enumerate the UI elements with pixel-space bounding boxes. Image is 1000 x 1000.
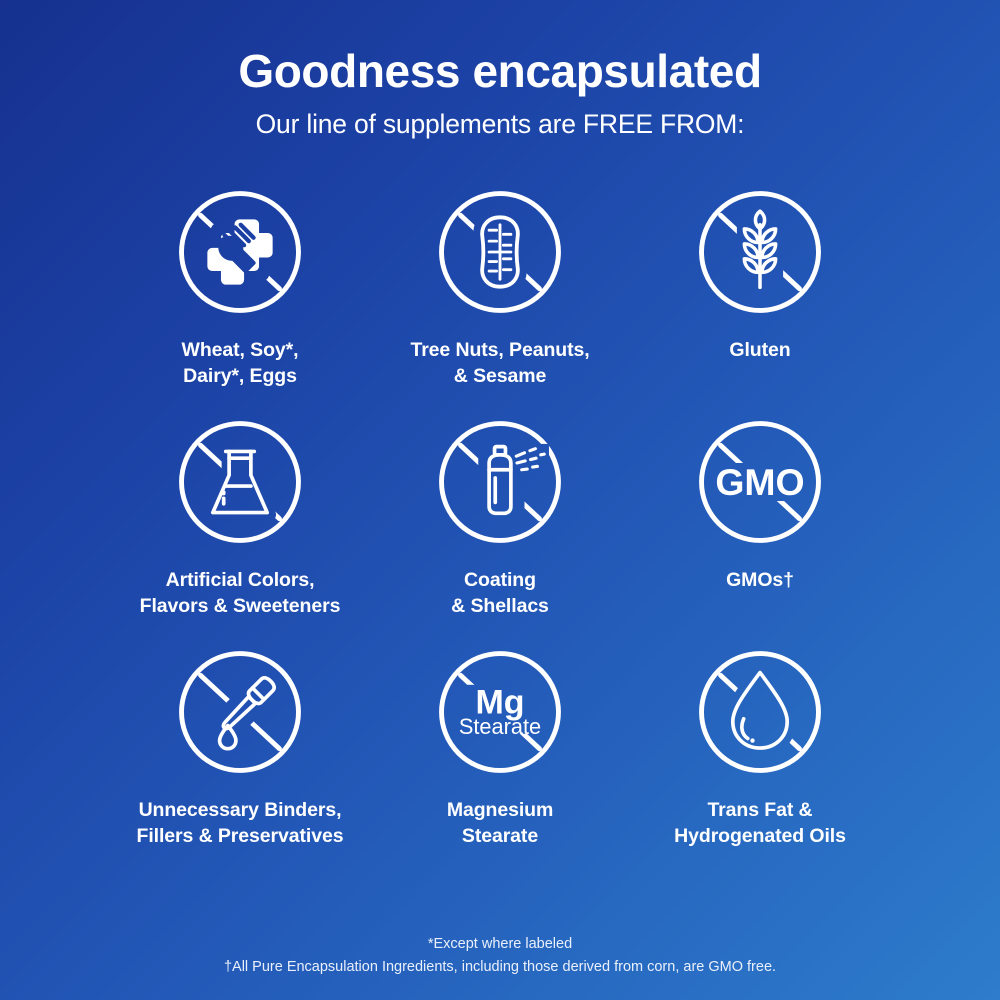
footnote-asterisk: *Except where labeled [0, 933, 1000, 955]
no-oil-droplet-icon [692, 644, 828, 780]
free-from-item-gmo: GMO GMOs† [630, 414, 890, 644]
free-from-label: Artificial Colors, Flavors & Sweeteners [140, 568, 341, 620]
no-wheat-stalk-icon [692, 184, 828, 320]
no-spray-can-icon [432, 414, 568, 550]
header: Goodness encapsulated Our line of supple… [0, 0, 1000, 139]
free-from-item-magnesium-stearate: Mg Stearate Magnesium Stearate [370, 644, 630, 874]
no-magnesium-stearate-icon: Mg Stearate [432, 644, 568, 780]
free-from-label: Wheat, Soy*, Dairy*, Eggs [182, 338, 299, 390]
no-flask-icon [172, 414, 308, 550]
free-from-item-gluten: Gluten [630, 184, 890, 414]
free-from-label: GMOs† [726, 568, 794, 594]
free-from-label: Coating & Shellacs [451, 568, 549, 620]
free-from-item-binders: Unnecessary Binders, Fillers & Preservat… [110, 644, 370, 874]
stearate-text: Stearate [459, 714, 541, 739]
no-dropper-icon [172, 644, 308, 780]
gmo-inner-text: GMO [715, 461, 804, 503]
free-from-grid: Wheat, Soy*, Dairy*, Eggs [0, 184, 1000, 874]
free-from-label: Magnesium Stearate [447, 798, 553, 850]
free-from-label: Gluten [729, 338, 790, 364]
free-from-label: Trans Fat & Hydrogenated Oils [674, 798, 846, 850]
page-subtitle: Our line of supplements are FREE FROM: [0, 110, 1000, 139]
no-gmo-icon: GMO [692, 414, 828, 550]
footnote-dagger: †All Pure Encapsulation Ingredients, inc… [0, 956, 1000, 978]
footnotes: *Except where labeled †All Pure Encapsul… [0, 933, 1000, 978]
page-title: Goodness encapsulated [0, 47, 1000, 96]
free-from-item-trans-fat: Trans Fat & Hydrogenated Oils [630, 644, 890, 874]
free-from-item-allergens: Wheat, Soy*, Dairy*, Eggs [110, 184, 370, 414]
free-from-label: Unnecessary Binders, Fillers & Preservat… [137, 798, 344, 850]
free-from-item-coating: Coating & Shellacs [370, 414, 630, 644]
poster: Goodness encapsulated Our line of supple… [0, 0, 1000, 1000]
no-peanut-icon [432, 184, 568, 320]
free-from-item-artificial: Artificial Colors, Flavors & Sweeteners [110, 414, 370, 644]
no-allergen-cross-fork-icon [172, 184, 308, 320]
free-from-label: Tree Nuts, Peanuts, & Sesame [410, 338, 589, 390]
free-from-item-nuts: Tree Nuts, Peanuts, & Sesame [370, 184, 630, 414]
